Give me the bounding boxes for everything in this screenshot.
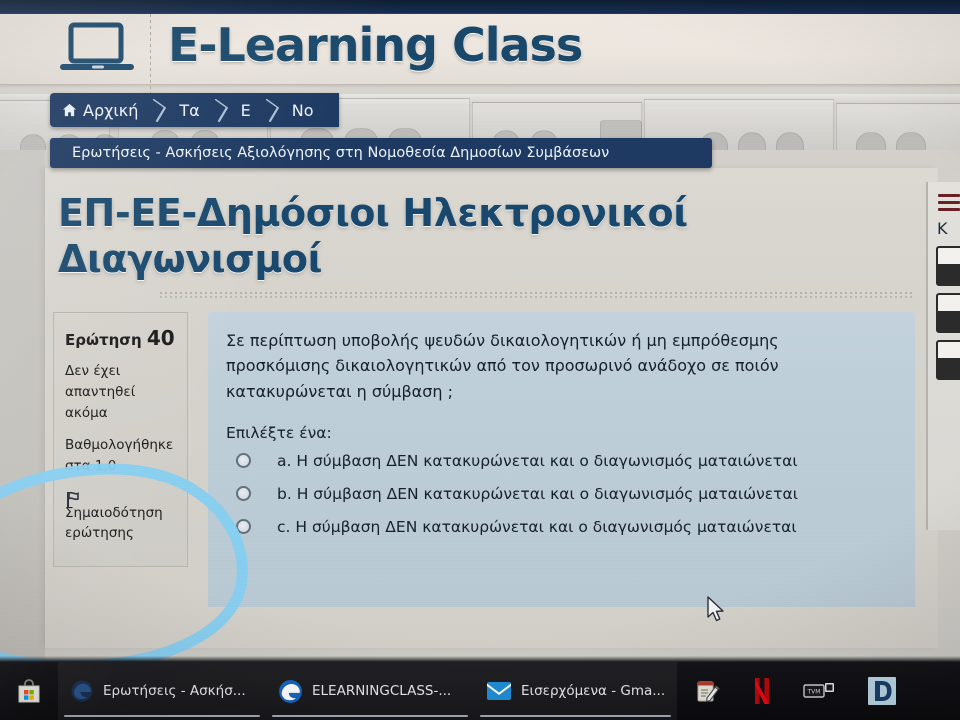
- windows-taskbar[interactable]: Ερωτήσεις - Ασκήσ... ELEARNINGCLASS-... …: [0, 662, 960, 720]
- breadcrumb-label-home: Αρχική: [83, 101, 138, 120]
- site-header: E-Learning Class: [0, 14, 960, 86]
- dotted-divider: [160, 292, 915, 300]
- question-number-value: 40: [147, 326, 175, 350]
- question-prompt: Επιλέξτε ένα:: [226, 424, 897, 442]
- flag-question-action[interactable]: Σημαιοδότηση ερώτησης: [65, 503, 176, 544]
- flag-icon[interactable]: [66, 491, 80, 509]
- answer-option-a[interactable]: a. Η σύμβαση ΔΕΝ κατακυρώνεται και ο δια…: [226, 452, 897, 470]
- radio-button-c[interactable]: [236, 519, 251, 534]
- breadcrumb-item-home[interactable]: Αρχική: [50, 93, 147, 127]
- home-icon: [62, 103, 77, 117]
- right-sidebar-thumb[interactable]: [936, 246, 960, 286]
- right-sidebar[interactable]: Κ: [926, 182, 960, 530]
- question-state: Δεν έχει απαντηθεί ακόμα: [65, 361, 176, 424]
- edge-icon: [70, 679, 94, 703]
- right-sidebar-letter: Κ: [937, 219, 960, 238]
- taskbar-label-mail: Εισερχόμενα - Gma...: [521, 683, 665, 699]
- store-bag-icon: [16, 678, 42, 704]
- page-title: ΕΠ-ΕΕ-Δημόσιοι Ηλεκτρονικοί Διαγωνισμοί: [58, 190, 758, 283]
- answer-option-b[interactable]: b. Η σύμβαση ΔΕΝ κατακυρώνεται και ο δια…: [226, 485, 897, 503]
- hamburger-menu-icon[interactable]: [938, 194, 960, 211]
- taskbar-item-netflix[interactable]: [737, 662, 787, 720]
- question-info-box: Ερώτηση 40 Δεν έχει απαντηθεί ακόμα Βαθμ…: [53, 312, 188, 567]
- letter-d-icon: [867, 676, 897, 706]
- question-panel: Σε περίπτωση υποβολής ψευδών δικαιολογητ…: [208, 312, 915, 607]
- breadcrumb-item-3[interactable]: Νο: [280, 93, 323, 127]
- taskbar-item-mail[interactable]: Εισερχόμενα - Gma...: [474, 662, 677, 720]
- course-subtitle-bar: Ερωτήσεις - Ασκήσεις Αξιολόγησης στη Νομ…: [50, 138, 712, 168]
- breadcrumb-chevron-icon: [260, 93, 280, 127]
- tv-icon: TVM: [803, 681, 835, 701]
- breadcrumb-tail: [323, 93, 339, 127]
- right-sidebar-thumb[interactable]: [936, 340, 960, 380]
- breadcrumb-chevron-icon: [147, 93, 167, 127]
- flag-question-label: Σημαιοδότηση ερώτησης: [65, 503, 176, 544]
- question-grade: Βαθμολογήθηκε στα 1,0: [65, 435, 176, 477]
- taskbar-item-notepad-pen[interactable]: [677, 662, 737, 720]
- breadcrumb[interactable]: Αρχική Τα Ε Νο: [50, 93, 339, 127]
- answer-option-a-label: a. Η σύμβαση ΔΕΝ κατακυρώνεται και ο δια…: [277, 452, 798, 470]
- breadcrumb-chevron-icon: [209, 93, 229, 127]
- mail-envelope-icon: [486, 681, 512, 701]
- question-number-label: Ερώτηση: [65, 331, 142, 349]
- right-sidebar-thumb[interactable]: [936, 293, 960, 333]
- taskbar-item-microsoft-store[interactable]: [0, 662, 58, 720]
- taskbar-item-tv[interactable]: TVM: [787, 662, 851, 720]
- svg-text:TVM: TVM: [807, 689, 821, 696]
- question-text: Σε περίπτωση υποβολής ψευδών δικαιολογητ…: [226, 328, 866, 404]
- breadcrumb-item-1[interactable]: Τα: [167, 93, 208, 127]
- radio-button-b[interactable]: [236, 486, 251, 501]
- taskbar-label-edge-questions: Ερωτήσεις - Ασκήσ...: [103, 683, 246, 699]
- taskbar-label-edge-elearningclass: ELEARNINGCLASS-...: [312, 683, 451, 699]
- breadcrumb-item-2[interactable]: Ε: [229, 93, 260, 127]
- laptop-icon: [58, 22, 138, 76]
- page-left-gutter: [0, 150, 45, 662]
- logo-divider: [150, 14, 151, 100]
- site-title: E-Learning Class: [168, 18, 582, 72]
- notepad-pen-icon: [693, 677, 721, 705]
- question-number-row: Ερώτηση 40: [65, 326, 176, 350]
- screen-photo: E-Learning Class Αρχική Τα Ε Νο Ερωτήσει…: [0, 0, 960, 720]
- taskbar-item-edge-elearningclass[interactable]: ELEARNINGCLASS-...: [266, 662, 474, 720]
- edge-icon: [278, 679, 303, 704]
- answer-option-c-label: c. Η σύμβαση ΔΕΝ κατακυρώνεται και ο δια…: [277, 518, 797, 536]
- answer-option-b-label: b. Η σύμβαση ΔΕΝ κατακυρώνεται και ο δια…: [277, 485, 798, 503]
- answer-option-c[interactable]: c. Η σύμβαση ΔΕΝ κατακυρώνεται και ο δια…: [226, 518, 897, 536]
- netflix-n-icon: [753, 677, 771, 705]
- taskbar-item-edge-questions[interactable]: Ερωτήσεις - Ασκήσ...: [58, 662, 266, 720]
- taskbar-item-dictionary[interactable]: [851, 662, 913, 720]
- radio-button-a[interactable]: [236, 453, 251, 468]
- mouse-pointer-icon: [706, 596, 726, 628]
